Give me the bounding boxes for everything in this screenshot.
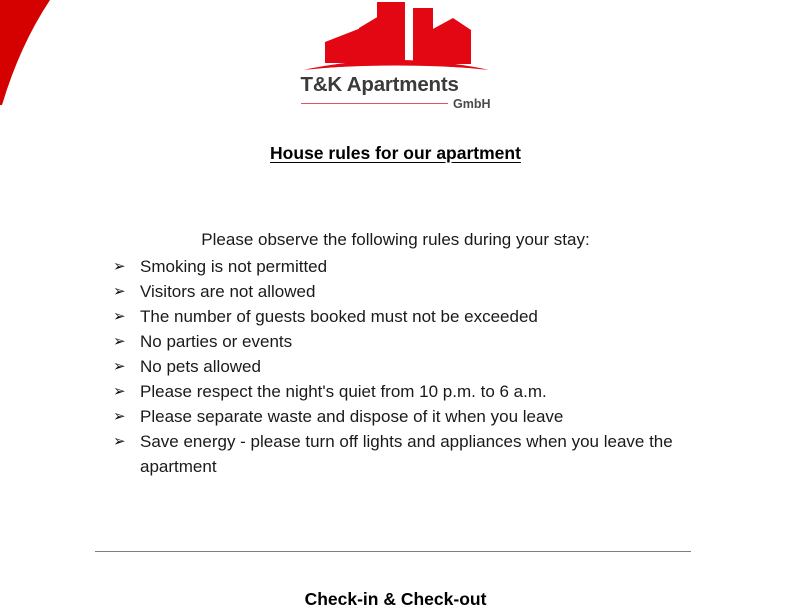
logo-suffix-row: GmbH xyxy=(301,97,491,111)
list-item: ➢Please separate waste and dispose of it… xyxy=(113,404,713,429)
bullet-arrow-icon: ➢ xyxy=(113,354,140,379)
logo-legal-suffix: GmbH xyxy=(453,97,491,111)
list-item: ➢Smoking is not permitted xyxy=(113,254,713,279)
checkin-checkout-heading: Check-in & Check-out xyxy=(0,589,791,610)
rule-text: No parties or events xyxy=(140,329,713,354)
brand-logo: T&K Apartments GmbH xyxy=(0,0,791,111)
section-divider xyxy=(95,551,691,552)
rule-text: Visitors are not allowed xyxy=(140,279,713,304)
list-item: ➢Save energy - please turn off lights an… xyxy=(113,429,713,479)
page-title: House rules for our apartment xyxy=(0,143,791,164)
bullet-arrow-icon: ➢ xyxy=(113,379,140,404)
list-item: ➢No parties or events xyxy=(113,329,713,354)
rule-text: The number of guests booked must not be … xyxy=(140,304,713,329)
bullet-arrow-icon: ➢ xyxy=(113,404,140,429)
rule-text: Smoking is not permitted xyxy=(140,254,713,279)
bullet-arrow-icon: ➢ xyxy=(113,254,140,279)
logo-company-name: T&K Apartments xyxy=(301,74,459,96)
building-skyline-icon xyxy=(301,0,491,72)
logo-underline-rule xyxy=(301,103,449,104)
list-item: ➢No pets allowed xyxy=(113,354,713,379)
intro-text: Please observe the following rules durin… xyxy=(0,230,791,250)
logo-wordmark: T&K Apartments GmbH xyxy=(301,74,491,111)
list-item: ➢The number of guests booked must not be… xyxy=(113,304,713,329)
rule-text: Please respect the night's quiet from 10… xyxy=(140,379,713,404)
bullet-arrow-icon: ➢ xyxy=(113,304,140,329)
bullet-arrow-icon: ➢ xyxy=(113,279,140,304)
house-rules-list: ➢Smoking is not permitted➢Visitors are n… xyxy=(113,254,713,479)
bullet-arrow-icon: ➢ xyxy=(113,329,140,354)
rule-text: Please separate waste and dispose of it … xyxy=(140,404,713,429)
list-item: ➢Please respect the night's quiet from 1… xyxy=(113,379,713,404)
rule-text: Save energy - please turn off lights and… xyxy=(140,429,713,479)
list-item: ➢Visitors are not allowed xyxy=(113,279,713,304)
bullet-arrow-icon: ➢ xyxy=(113,429,140,454)
rule-text: No pets allowed xyxy=(140,354,713,379)
